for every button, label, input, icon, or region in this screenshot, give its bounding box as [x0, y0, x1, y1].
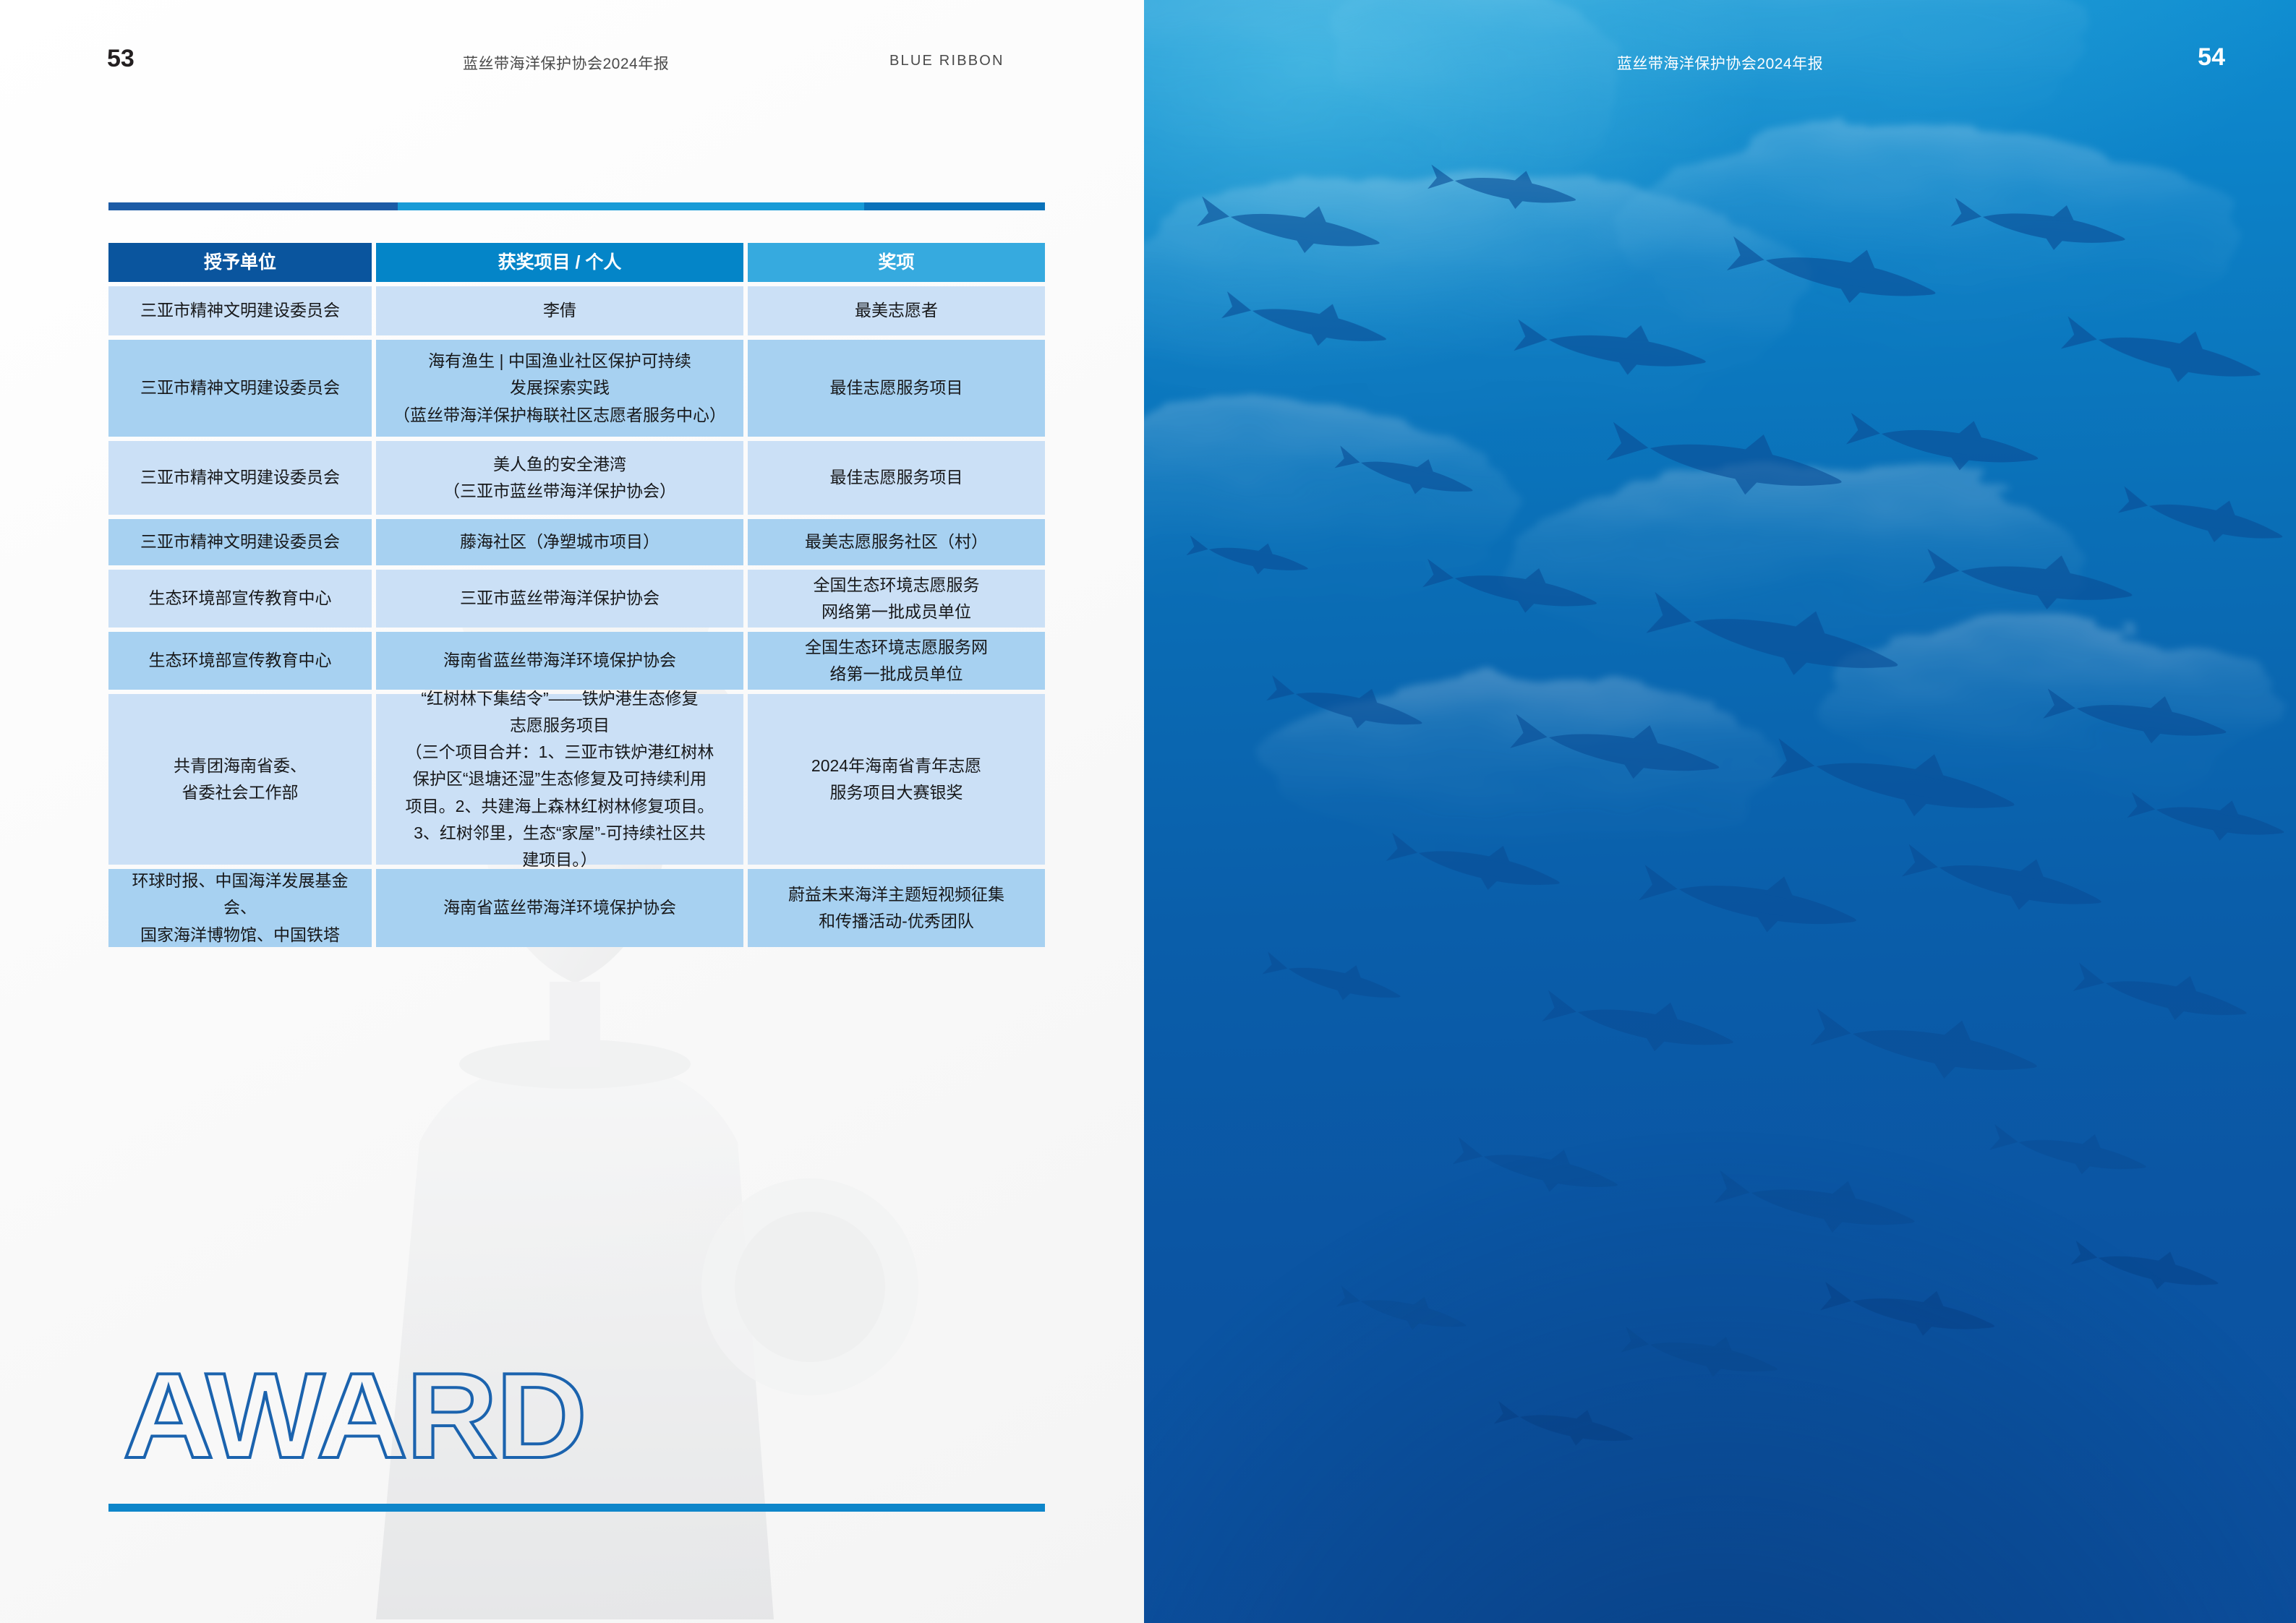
- cell-award: 最美志愿服务社区（村）: [748, 519, 1045, 565]
- cell-award-text: 最佳志愿服务项目: [830, 374, 963, 401]
- cell-project-text: 海南省蓝丝带海洋环境保护协会: [443, 647, 676, 674]
- cell-organization-text: 三亚市精神文明建设委员会: [140, 297, 340, 324]
- page-number-left: 53: [107, 45, 135, 73]
- cell-organization-text: 三亚市精神文明建设委员会: [140, 374, 340, 401]
- cell-award-text: 2024年海南省青年志愿服务项目大赛银奖: [811, 753, 981, 807]
- bottom-accent-rule: [108, 1504, 1045, 1512]
- awards-table: 授予单位 获奖项目 / 个人 奖项 三亚市精神文明建设委员会李倩最美志愿者三亚市…: [108, 243, 1045, 951]
- cell-award-text: 最佳志愿服务项目: [830, 464, 963, 491]
- cell-project: 藤海社区（净塑城市项目）: [376, 519, 743, 565]
- cell-project: “红树林下集结令”——铁炉港生态修复志愿服务项目（三个项目合并：1、三亚市铁炉港…: [376, 694, 743, 865]
- cell-organization: 共青团海南省委、省委社会工作部: [108, 694, 372, 865]
- cell-project: 三亚市蓝丝带海洋保护协会: [376, 570, 743, 628]
- accent-segment-dark: [108, 202, 398, 210]
- cell-award: 全国生态环境志愿服务网络第一批成员单位: [748, 632, 1045, 690]
- cell-project-text: 三亚市蓝丝带海洋保护协会: [460, 585, 660, 612]
- cell-project-text: “红树林下集结令”——铁炉港生态修复志愿服务项目（三个项目合并：1、三亚市铁炉港…: [406, 685, 714, 874]
- table-row: 三亚市精神文明建设委员会藤海社区（净塑城市项目）最美志愿服务社区（村）: [108, 519, 1045, 565]
- top-accent-bar: [108, 202, 1045, 210]
- cell-project-text: 藤海社区（净塑城市项目）: [460, 528, 660, 555]
- header-title-cn-right: 蓝丝带海洋保护协会2024年报: [1144, 52, 2296, 74]
- two-page-spread: 53 蓝丝带海洋保护协会2024年报 BLUE RIBBON 授予单位 获奖项目…: [0, 0, 2296, 1623]
- cell-organization-text: 生态环境部宣传教育中心: [149, 585, 332, 612]
- cell-award: 最佳志愿服务项目: [748, 441, 1045, 515]
- column-header-award: 奖项: [748, 243, 1045, 282]
- table-row: 三亚市精神文明建设委员会美人鱼的安全港湾（三亚市蓝丝带海洋保护协会）最佳志愿服务…: [108, 441, 1045, 515]
- cell-award-text: 最美志愿服务社区（村）: [805, 528, 988, 555]
- cell-award-text: 蔚益未来海洋主题短视频征集和传播活动-优秀团队: [788, 881, 1004, 935]
- cell-organization: 三亚市精神文明建设委员会: [108, 441, 372, 515]
- accent-segment-mid: [864, 202, 1045, 210]
- cell-organization: 生态环境部宣传教育中心: [108, 632, 372, 690]
- cell-organization: 生态环境部宣传教育中心: [108, 570, 372, 628]
- cell-project-text: 美人鱼的安全港湾（三亚市蓝丝带海洋保护协会）: [443, 451, 676, 505]
- cell-organization-text: 环球时报、中国海洋发展基金会、国家海洋博物馆、中国铁塔: [119, 868, 362, 948]
- cell-organization-text: 三亚市精神文明建设委员会: [140, 528, 340, 555]
- left-page: 53 蓝丝带海洋保护协会2024年报 BLUE RIBBON 授予单位 获奖项目…: [0, 0, 1144, 1623]
- cell-organization-text: 三亚市精神文明建设委员会: [140, 464, 340, 491]
- cell-award-text: 最美志愿者: [855, 297, 938, 324]
- award-outline-wordmark: AWARD: [123, 1356, 673, 1479]
- page-number-right: 54: [2198, 43, 2225, 72]
- cell-project-text: 海有渔生 | 中国渔业社区保护可持续发展探索实践（蓝丝带海洋保护梅联社区志愿者服…: [393, 348, 726, 429]
- cell-organization: 三亚市精神文明建设委员会: [108, 340, 372, 437]
- table-row: 生态环境部宣传教育中心海南省蓝丝带海洋环境保护协会全国生态环境志愿服务网络第一批…: [108, 632, 1045, 690]
- cell-award: 最美志愿者: [748, 286, 1045, 335]
- table-row: 生态环境部宣传教育中心三亚市蓝丝带海洋保护协会全国生态环境志愿服务网络第一批成员…: [108, 570, 1045, 628]
- cell-award: 最佳志愿服务项目: [748, 340, 1045, 437]
- left-page-header: 53 蓝丝带海洋保护协会2024年报 BLUE RIBBON: [0, 0, 1144, 87]
- cell-organization-text: 生态环境部宣传教育中心: [149, 647, 332, 674]
- cell-project: 海有渔生 | 中国渔业社区保护可持续发展探索实践（蓝丝带海洋保护梅联社区志愿者服…: [376, 340, 743, 437]
- cell-award-text: 全国生态环境志愿服务网络第一批成员单位: [805, 634, 988, 688]
- cell-project: 海南省蓝丝带海洋环境保护协会: [376, 632, 743, 690]
- accent-segment-light: [398, 202, 864, 210]
- column-header-organization: 授予单位: [108, 243, 372, 282]
- cell-award: 蔚益未来海洋主题短视频征集和传播活动-优秀团队: [748, 869, 1045, 947]
- cell-organization: 环球时报、中国海洋发展基金会、国家海洋博物馆、中国铁塔: [108, 869, 372, 947]
- table-row: 共青团海南省委、省委社会工作部“红树林下集结令”——铁炉港生态修复志愿服务项目（…: [108, 694, 1045, 865]
- svg-text:AWARD: AWARD: [123, 1356, 586, 1479]
- cell-award-text: 全国生态环境志愿服务网络第一批成员单位: [814, 572, 980, 626]
- table-row: 环球时报、中国海洋发展基金会、国家海洋博物馆、中国铁塔海南省蓝丝带海洋环境保护协…: [108, 869, 1045, 947]
- cell-award: 全国生态环境志愿服务网络第一批成员单位: [748, 570, 1045, 628]
- header-title-cn-left: 蓝丝带海洋保护协会2024年报: [463, 52, 669, 74]
- cell-project-text: 海南省蓝丝带海洋环境保护协会: [443, 894, 676, 921]
- depth-vignette: [1144, 0, 2296, 1623]
- cell-project-text: 李倩: [543, 297, 576, 324]
- table-body: 三亚市精神文明建设委员会李倩最美志愿者三亚市精神文明建设委员会海有渔生 | 中国…: [108, 286, 1045, 947]
- cell-organization-text: 共青团海南省委、省委社会工作部: [174, 753, 307, 807]
- cell-organization: 三亚市精神文明建设委员会: [108, 519, 372, 565]
- cell-project: 美人鱼的安全港湾（三亚市蓝丝带海洋保护协会）: [376, 441, 743, 515]
- cell-project: 李倩: [376, 286, 743, 335]
- cell-project: 海南省蓝丝带海洋环境保护协会: [376, 869, 743, 947]
- table-row: 三亚市精神文明建设委员会李倩最美志愿者: [108, 286, 1045, 335]
- right-page: BLUE RIBBON 蓝丝带海洋保护协会2024年报 54 06 MEMBER…: [1144, 0, 2296, 1623]
- cell-organization: 三亚市精神文明建设委员会: [108, 286, 372, 335]
- header-brand-en-left: BLUE RIBBON: [889, 53, 1004, 69]
- table-header-row: 授予单位 获奖项目 / 个人 奖项: [108, 243, 1045, 282]
- column-header-project: 获奖项目 / 个人: [376, 243, 743, 282]
- cell-award: 2024年海南省青年志愿服务项目大赛银奖: [748, 694, 1045, 865]
- table-row: 三亚市精神文明建设委员会海有渔生 | 中国渔业社区保护可持续发展探索实践（蓝丝带…: [108, 340, 1045, 437]
